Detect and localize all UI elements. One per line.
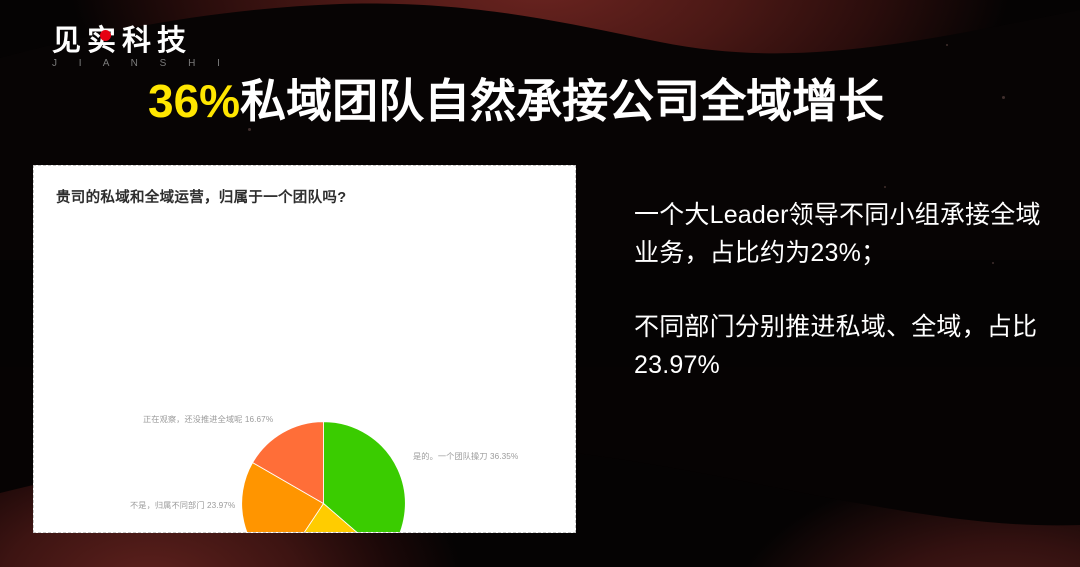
background-speck [946, 44, 948, 46]
pie-label-observing: 正在观察，还没推进全域呢 16.67% [143, 413, 273, 425]
page-title: 36%私域团队自然承接公司全域增长 [148, 74, 884, 129]
notes-block: 一个大Leader领导不同小组承接全域业务，占比约为23%； 不同部门分别推进私… [634, 196, 1049, 384]
background-speck [1002, 96, 1005, 99]
pie-label-different-departments: 不是，归属不同部门 23.97% [130, 499, 235, 511]
brand-pinyin: J I A N S H I [52, 58, 229, 69]
brand-name-text: 见实科技 [52, 25, 192, 57]
chart-card: 贵司的私域和全域运营，归属于一个团队吗? 正在观察，还没推进全域呢 16.67%… [33, 165, 576, 533]
pie-label-yes-one-team: 是的。一个团队操刀 36.35% [413, 450, 518, 462]
background-speck [884, 186, 886, 188]
pie-slice-group [242, 422, 406, 533]
note-paragraph-2: 不同部门分别推进私域、全域，占比23.97% [634, 308, 1049, 384]
pie-chart-svg [240, 420, 407, 533]
brand-logo: 见实科技 J I A N S H I [52, 26, 229, 69]
background-glow-bottom-right [648, 420, 1080, 567]
slide-canvas: 见实科技 J I A N S H I 36%私域团队自然承接公司全域增长 贵司的… [0, 0, 1080, 567]
page-title-highlight: 36% [148, 75, 240, 127]
page-title-rest: 私域团队自然承接公司全域增长 [240, 75, 884, 127]
brand-red-dot-icon [100, 30, 111, 41]
chart-title: 贵司的私域和全域运营，归属于一个团队吗? [56, 186, 346, 207]
note-paragraph-1: 一个大Leader领导不同小组承接全域业务，占比约为23%； [634, 196, 1049, 272]
brand-name: 见实科技 [52, 26, 229, 57]
pie-chart [240, 420, 407, 533]
